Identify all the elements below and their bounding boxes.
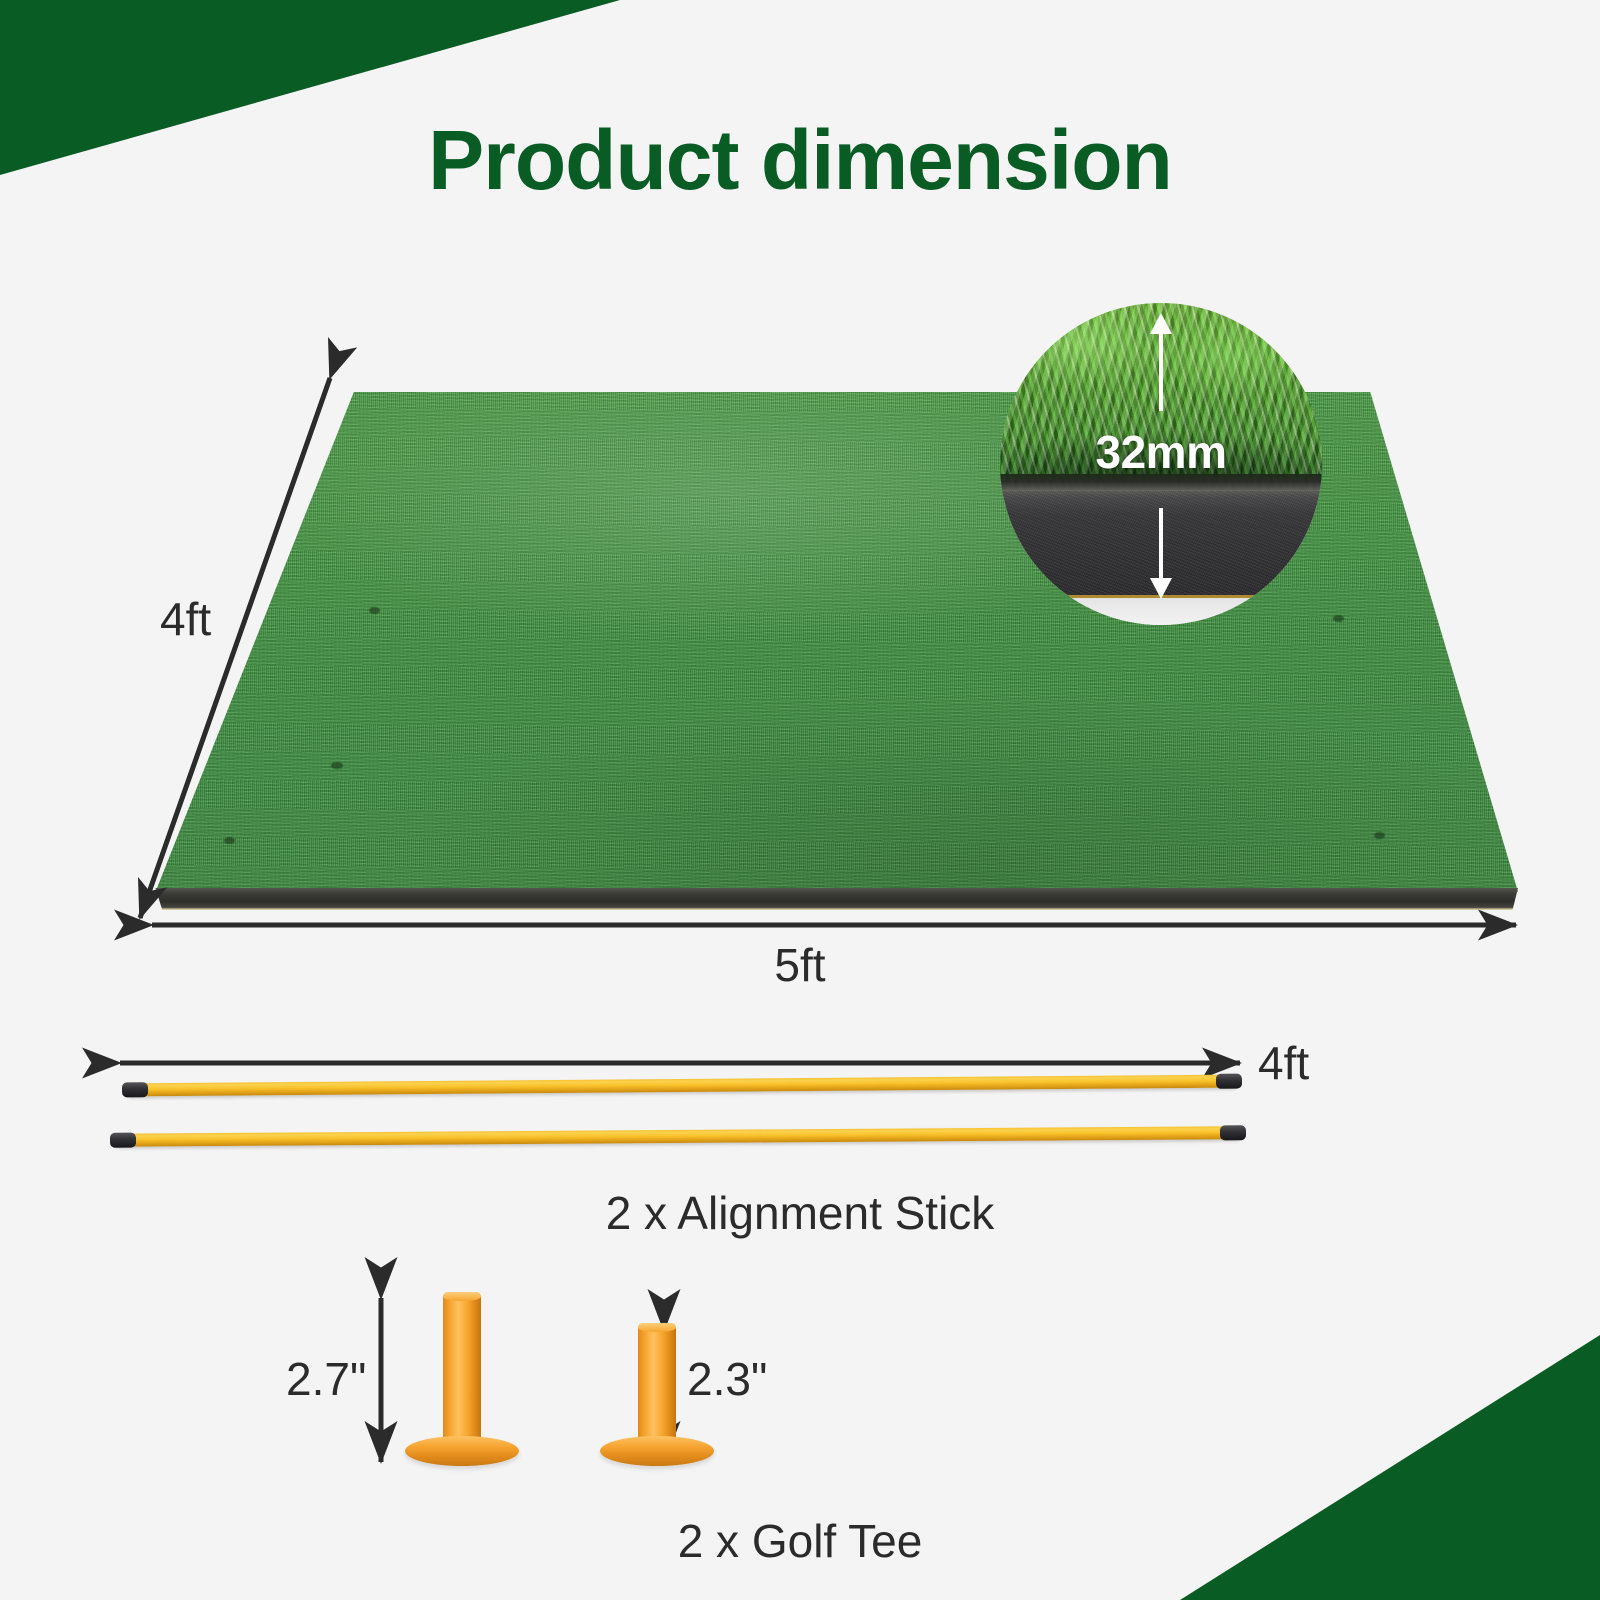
golf-tee [598,1323,716,1473]
tee-post [443,1292,481,1444]
alignment-stick [126,1075,1238,1097]
turf-divot [1333,615,1344,622]
thickness-arrow-shaft-upper [1159,333,1163,411]
inset-floor-surface [1000,598,1322,625]
tee-1-height-label: 2.7" [286,1356,366,1402]
stick-end-cap-icon [122,1082,148,1097]
mat-foam-base-edge [155,888,1518,910]
alignment-stick-caption: 2 x Alignment Stick [0,1190,1600,1236]
stick-end-cap-icon [1216,1074,1242,1089]
tee-base [600,1436,714,1466]
page-title: Product dimension [0,118,1600,202]
thickness-arrow-up-icon [1150,313,1172,334]
tee-post [638,1323,676,1444]
golf-tee-caption: 2 x Golf Tee [0,1518,1600,1564]
tee-base [405,1436,519,1466]
mat-depth-label: 4ft [160,596,211,642]
turf-divot [369,607,380,614]
stick-end-cap-icon [1220,1125,1246,1140]
thickness-arrow-shaft-lower [1159,508,1163,580]
infographic-canvas: Product dimension 32mm [0,0,1600,1600]
thickness-label: 32mm [1000,425,1322,479]
thickness-detail-inset: 32mm [1000,303,1322,625]
stick-length-label: 4ft [1258,1040,1309,1086]
alignment-stick [114,1126,1242,1146]
stick-end-cap-icon [110,1133,136,1148]
thickness-arrow-down-icon [1150,578,1172,599]
golf-tee [403,1292,521,1472]
mat-width-label: 5ft [0,942,1600,988]
